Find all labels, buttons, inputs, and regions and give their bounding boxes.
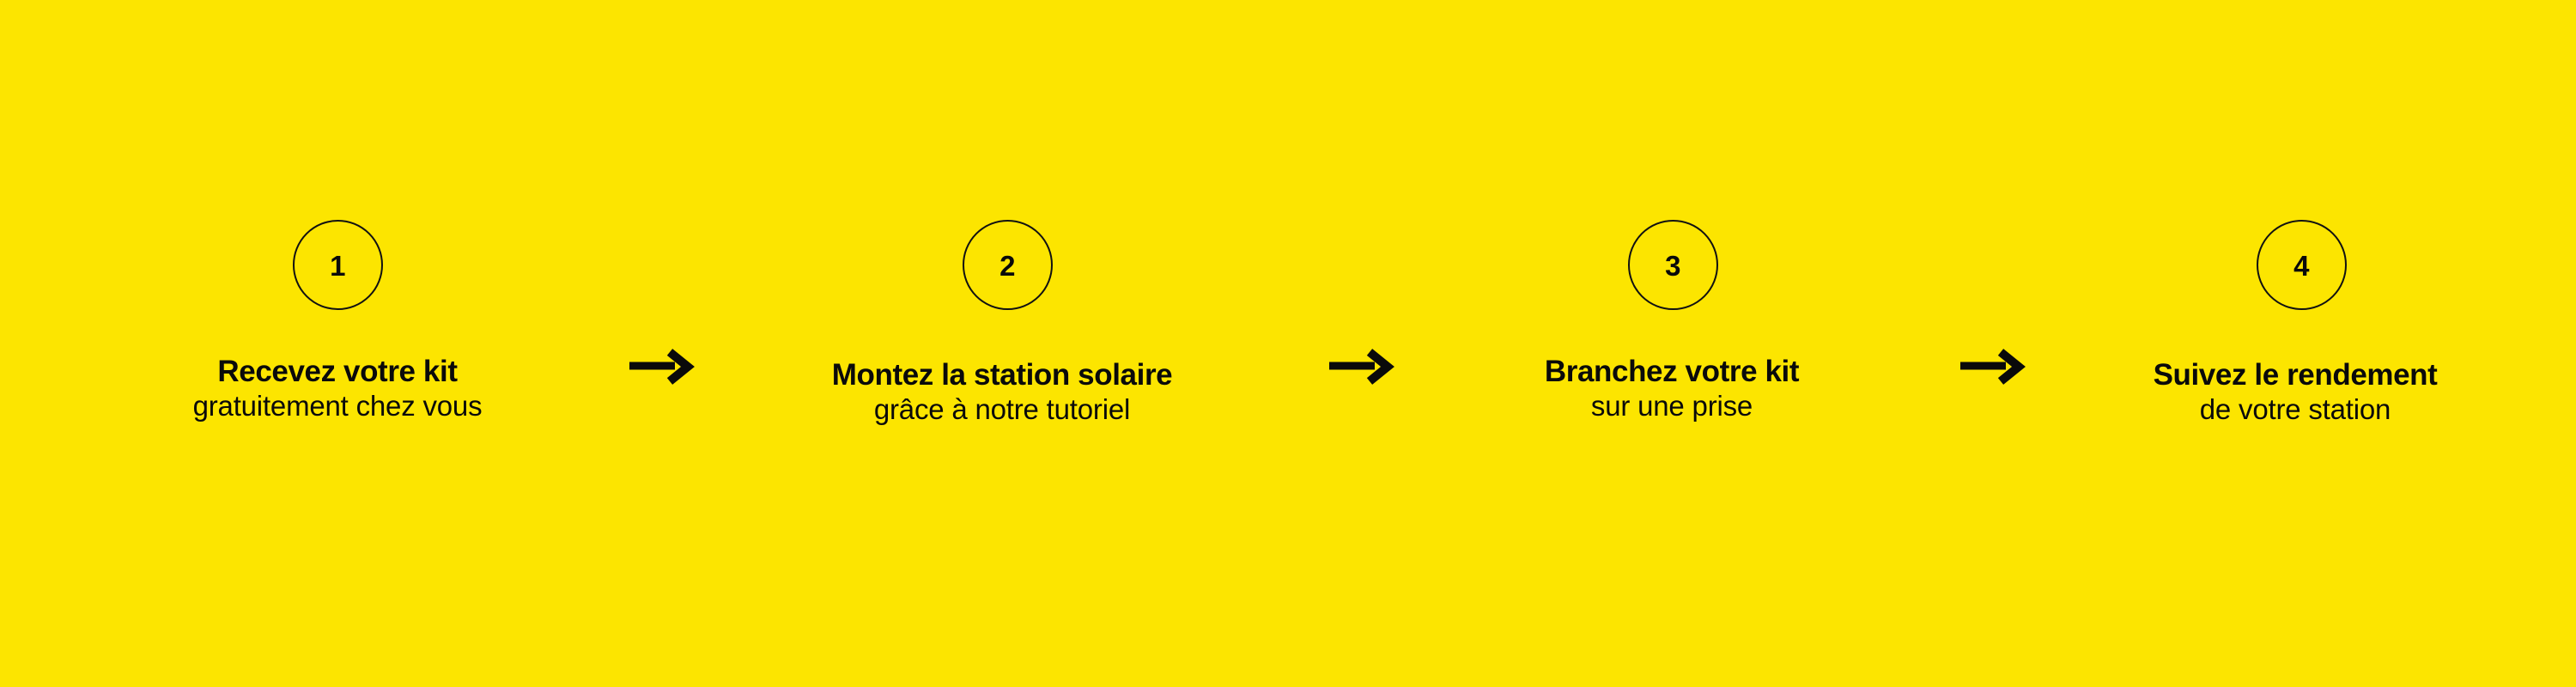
step-text-block: Recevez votre kit gratuitement chez vous [193, 355, 483, 423]
step-number-badge: 3 [1628, 220, 1718, 310]
arrow-right-icon [1329, 347, 1391, 386]
arrow-right-icon [629, 347, 691, 386]
step-item-1: 1 Recevez votre kit gratuitement chez vo… [0, 0, 2576, 687]
step-number-badge: 4 [2257, 220, 2347, 310]
step-number-label: 3 [1665, 252, 1680, 280]
step-subtitle: gratuitement chez vous [193, 389, 483, 423]
step-title: Suivez le rendement [2154, 358, 2438, 392]
step-item-4: 4 Suivez le rendement de votre station [0, 0, 2576, 687]
step-subtitle: sur une prise [1545, 389, 1799, 423]
step-subtitle: grâce à notre tutoriel [832, 392, 1172, 427]
process-steps-banner: 1 Recevez votre kit gratuitement chez vo… [0, 0, 2576, 687]
step-item-3: 3 Branchez votre kit sur une prise [0, 0, 2576, 687]
arrow-right-icon [1960, 347, 2022, 386]
step-number-badge: 2 [963, 220, 1053, 310]
step-title: Montez la station solaire [832, 358, 1172, 392]
step-text-block: Suivez le rendement de votre station [2154, 358, 2438, 427]
step-text-block: Branchez votre kit sur une prise [1545, 355, 1799, 423]
step-number-label: 2 [999, 252, 1015, 280]
step-subtitle: de votre station [2154, 392, 2438, 427]
step-number-label: 1 [330, 252, 345, 280]
step-title: Recevez votre kit [193, 355, 483, 389]
step-text-block: Montez la station solaire grâce à notre … [832, 358, 1172, 427]
step-number-badge: 1 [293, 220, 383, 310]
step-title: Branchez votre kit [1545, 355, 1799, 389]
step-item-2: 2 Montez la station solaire grâce à notr… [0, 0, 2576, 687]
step-number-label: 4 [2293, 252, 2309, 280]
